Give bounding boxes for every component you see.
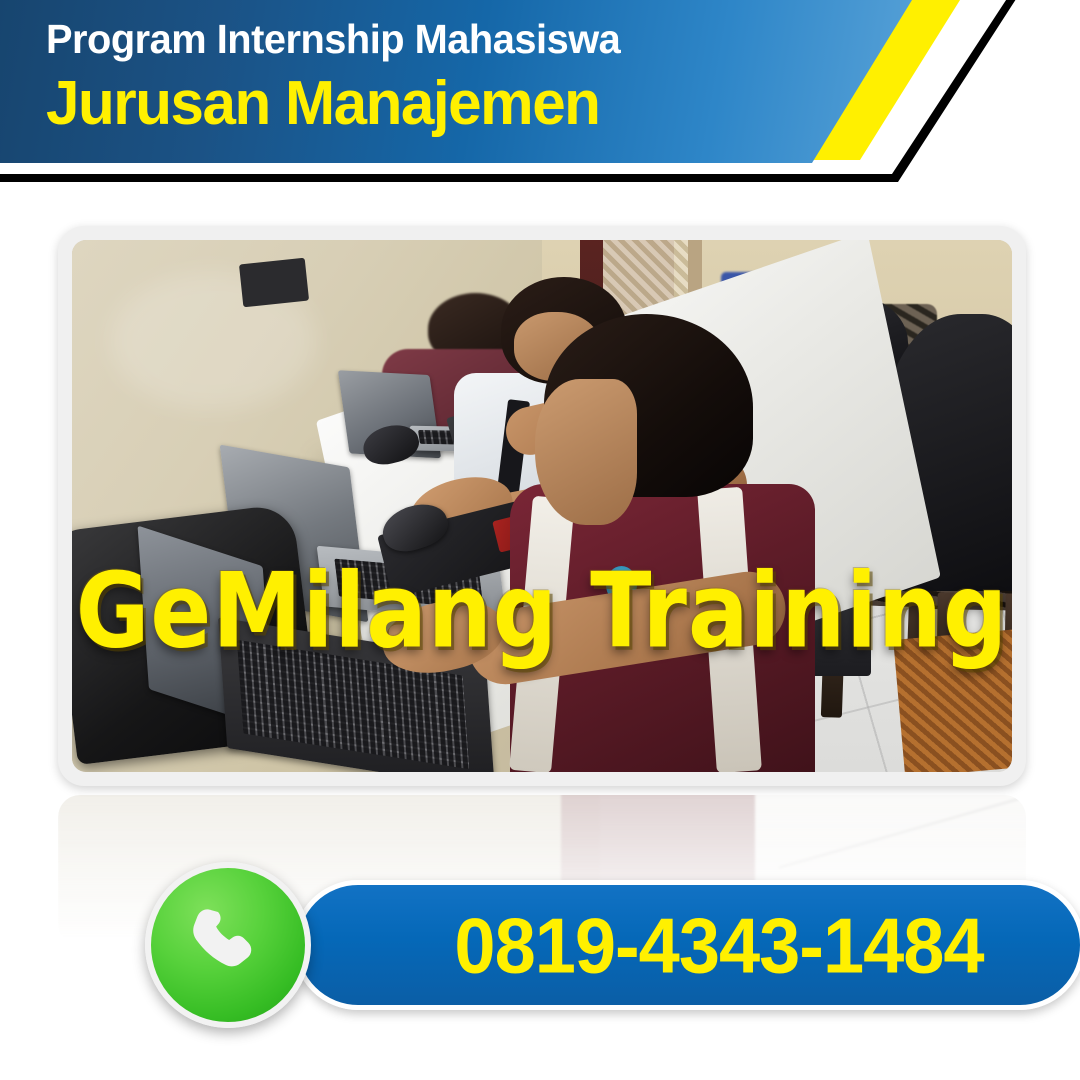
photo-card: GeMilang Training [58,226,1026,786]
photo-face [535,379,637,525]
training-photo: GeMilang Training [72,240,1012,772]
header-text-block: Program Internship Mahasiswa Jurusan Man… [46,14,906,142]
phone-handset-icon [182,899,274,991]
phone-number-button[interactable]: 0819-4343-1484 [293,880,1080,1010]
photo-wicker-basket [893,628,1012,772]
header-banner: Program Internship Mahasiswa Jurusan Man… [0,0,1080,200]
phone-number-text: 0819-4343-1484 [394,900,983,989]
header-title: Jurusan Manajemen [46,66,880,142]
call-to-action[interactable]: 0819-4343-1484 [145,862,945,1030]
phone-call-button[interactable] [145,862,311,1028]
photo-wall-socket [239,258,309,307]
photo-person-maroon-jacket [533,314,815,772]
header-subtitle: Program Internship Mahasiswa [46,14,880,64]
